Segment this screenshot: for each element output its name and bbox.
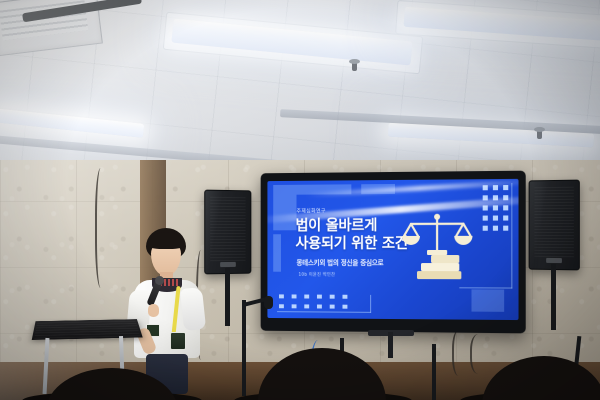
- speaker-stand-right: [551, 264, 556, 330]
- mic-stand-3: [432, 344, 436, 400]
- speaker-grille: [534, 185, 573, 258]
- speaker-grille: [210, 195, 245, 261]
- speaker-stand-left: [225, 268, 230, 326]
- slide-bottom-rule-vertical: [370, 295, 371, 313]
- mic-stand-1: [242, 300, 246, 396]
- slide-title-line-2: 사용되기 위한 조건: [296, 236, 408, 254]
- music-stand-desk: [32, 319, 143, 340]
- hanging-cable-3: [452, 330, 468, 376]
- slide-accent-block-c: [361, 184, 395, 194]
- slide-dot-grid-right: [483, 185, 509, 231]
- slide-accent-block-a: [273, 185, 296, 231]
- presenter-hand: [148, 304, 159, 317]
- pa-speaker-right: [529, 180, 580, 271]
- slide-accent-block-d: [273, 234, 281, 271]
- mic-head-1: [264, 296, 273, 309]
- slide-bottom-rule: [277, 311, 371, 313]
- slide-accent-block-b: [296, 184, 351, 194]
- speaker-badge: [220, 262, 236, 267]
- slide-accent-block-e: [471, 289, 504, 311]
- ceiling-shading: [0, 0, 600, 175]
- presenter: [126, 228, 206, 388]
- ceiling: [0, 0, 600, 175]
- slide-subtitle: 몽테스키외 법의 정신을 중심으로: [296, 257, 383, 267]
- slide-screen: 주제심화연구 법이 올바르게 사용되기 위한 조건 몽테스키외 법의 정신을 중…: [267, 179, 518, 320]
- slide-horizontal-rule: [459, 287, 512, 288]
- slide-title-line-1: 법이 올바르게: [296, 218, 408, 236]
- presenter-id-badge: [170, 332, 186, 350]
- presentation-display[interactable]: 주제심화연구 법이 올바르게 사용되기 위한 조건 몽테스키외 법의 정신을 중…: [261, 171, 526, 334]
- slide-vertical-rule: [511, 183, 512, 289]
- presenter-sleeve-right: [180, 287, 206, 331]
- hanging-cable-1: [95, 168, 109, 288]
- pa-speaker-left: [204, 190, 251, 275]
- display-stand-pole: [388, 332, 393, 358]
- speaker-badge: [546, 258, 562, 263]
- presentation-photo-scene: 주제심화연구 법이 올바르게 사용되기 위한 조건 몽테스키외 법의 정신을 중…: [0, 0, 600, 400]
- hanging-cable-4: [470, 334, 490, 374]
- slide-credit: 10b 이윤진 박민찬: [298, 272, 335, 278]
- slide-title: 법이 올바르게 사용되기 위한 조건: [296, 218, 408, 253]
- slide-dot-grid-bottom: [279, 294, 347, 308]
- slide-kicker: 주제심화연구: [296, 207, 325, 214]
- scales-of-justice-icon: [399, 210, 476, 285]
